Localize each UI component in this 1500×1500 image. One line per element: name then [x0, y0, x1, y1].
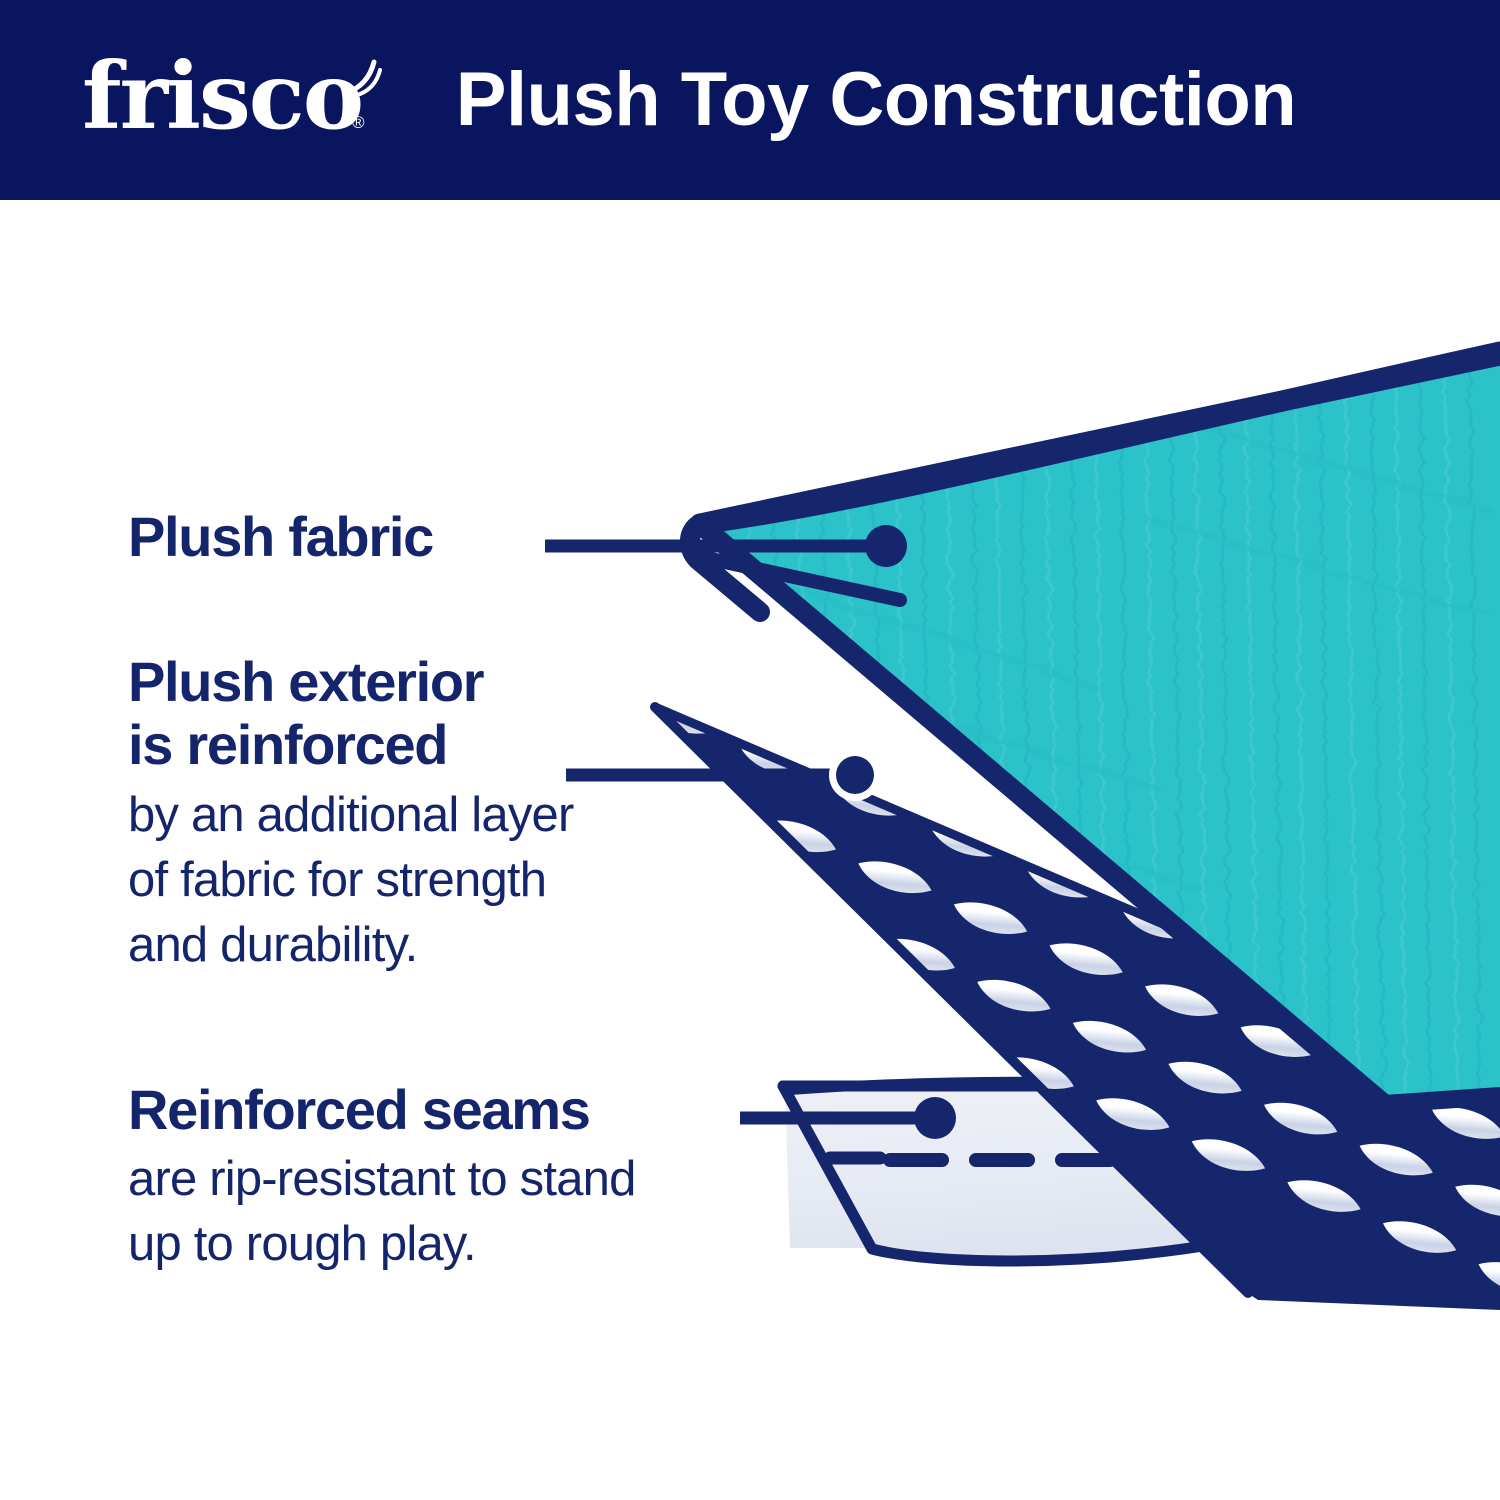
callout-plush-exterior: Plush exterior is reinforced by an addit… [128, 650, 573, 978]
callout-body-plush-exterior: by an additional layer of fabric for str… [128, 783, 573, 978]
callout-reinforced-seams: Reinforced seams are rip-resistant to st… [128, 1078, 636, 1278]
callout-headline-plush-fabric: Plush fabric [128, 505, 433, 568]
callouts-container: Plush fabric Plush exterior is reinforce… [0, 0, 1500, 1500]
callout-headline-plush-exterior: Plush exterior is reinforced [128, 650, 573, 777]
infographic-page: frisco ® Plush Toy Construction [0, 0, 1500, 1500]
callout-body-reinforced-seams: are rip-resistant to stand up to rough p… [128, 1147, 636, 1277]
callout-headline-reinforced-seams: Reinforced seams [128, 1078, 636, 1141]
callout-plush-fabric: Plush fabric [128, 505, 433, 574]
